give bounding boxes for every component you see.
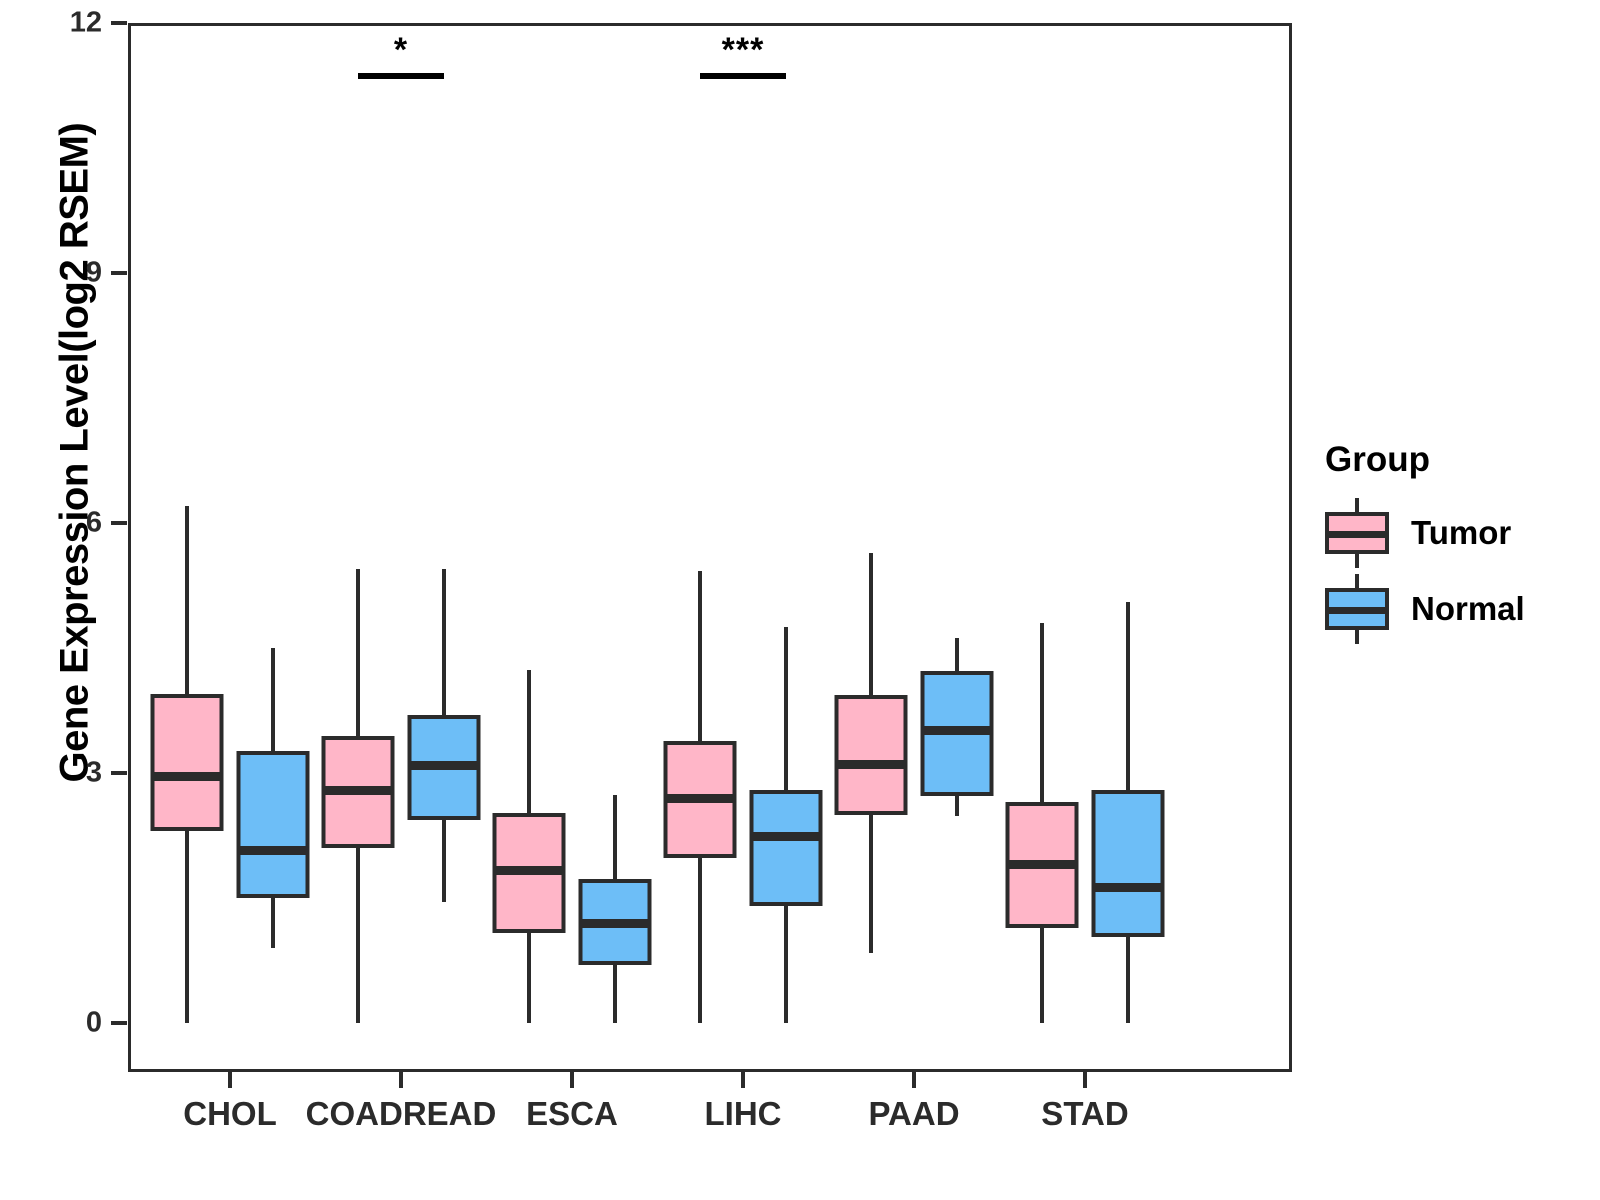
box-rect [835, 695, 908, 815]
box-rect [151, 694, 224, 832]
significance-bar [358, 73, 444, 79]
legend-title: Group [1325, 440, 1525, 480]
boxplot-figure: Gene Expression Level(log2 RSEM) 036912 … [0, 0, 1600, 1200]
box-rect [237, 751, 310, 898]
x-tick-mark [912, 1072, 916, 1088]
median-line [664, 794, 737, 803]
legend-entries: TumorNormal [1325, 506, 1525, 636]
y-tick-mark [111, 771, 127, 775]
y-tick-mark [111, 521, 127, 525]
x-tick-mark [1083, 1072, 1087, 1088]
median-line [835, 760, 908, 769]
legend-item-normal[interactable]: Normal [1325, 582, 1525, 636]
median-line [151, 772, 224, 781]
y-tick-mark [111, 271, 127, 275]
y-tick-label: 3 [86, 757, 102, 790]
median-line [237, 846, 310, 855]
x-tick-label-lihc: LIHC [705, 1095, 782, 1133]
significance-label: * [394, 31, 408, 70]
y-axis-title: Gene Expression Level(log2 RSEM) [53, 223, 98, 783]
legend: Group TumorNormal [1325, 440, 1525, 658]
legend-key-median [1325, 607, 1389, 614]
median-line [322, 786, 395, 795]
y-tick-label: 9 [86, 257, 102, 290]
box-rect [750, 790, 823, 907]
y-tick-mark [111, 1021, 127, 1025]
x-tick-mark [741, 1072, 745, 1088]
legend-key-median [1325, 531, 1389, 538]
median-line [1006, 860, 1079, 869]
x-tick-mark [228, 1072, 232, 1088]
x-tick-label-esca: ESCA [526, 1095, 618, 1133]
median-line [921, 726, 994, 735]
x-tick-label-stad: STAD [1041, 1095, 1128, 1133]
median-line [1092, 883, 1165, 892]
median-line [408, 761, 481, 770]
x-tick-mark [399, 1072, 403, 1088]
x-tick-label-coadread: COADREAD [306, 1095, 497, 1133]
x-tick-mark [570, 1072, 574, 1088]
legend-key-icon [1325, 582, 1389, 636]
legend-label: Normal [1411, 590, 1525, 628]
significance-label: *** [722, 31, 765, 70]
box-rect [1092, 790, 1165, 938]
median-line [493, 866, 566, 875]
legend-key-icon [1325, 506, 1389, 560]
x-tick-label-paad: PAAD [868, 1095, 959, 1133]
significance-bar [700, 73, 786, 79]
legend-label: Tumor [1411, 514, 1511, 552]
x-tick-label-chol: CHOL [183, 1095, 277, 1133]
y-tick-label: 12 [70, 7, 102, 40]
y-tick-mark [111, 21, 127, 25]
legend-item-tumor[interactable]: Tumor [1325, 506, 1525, 560]
y-tick-label: 6 [86, 507, 102, 540]
y-tick-label: 0 [86, 1007, 102, 1040]
median-line [750, 832, 823, 841]
median-line [579, 919, 652, 928]
